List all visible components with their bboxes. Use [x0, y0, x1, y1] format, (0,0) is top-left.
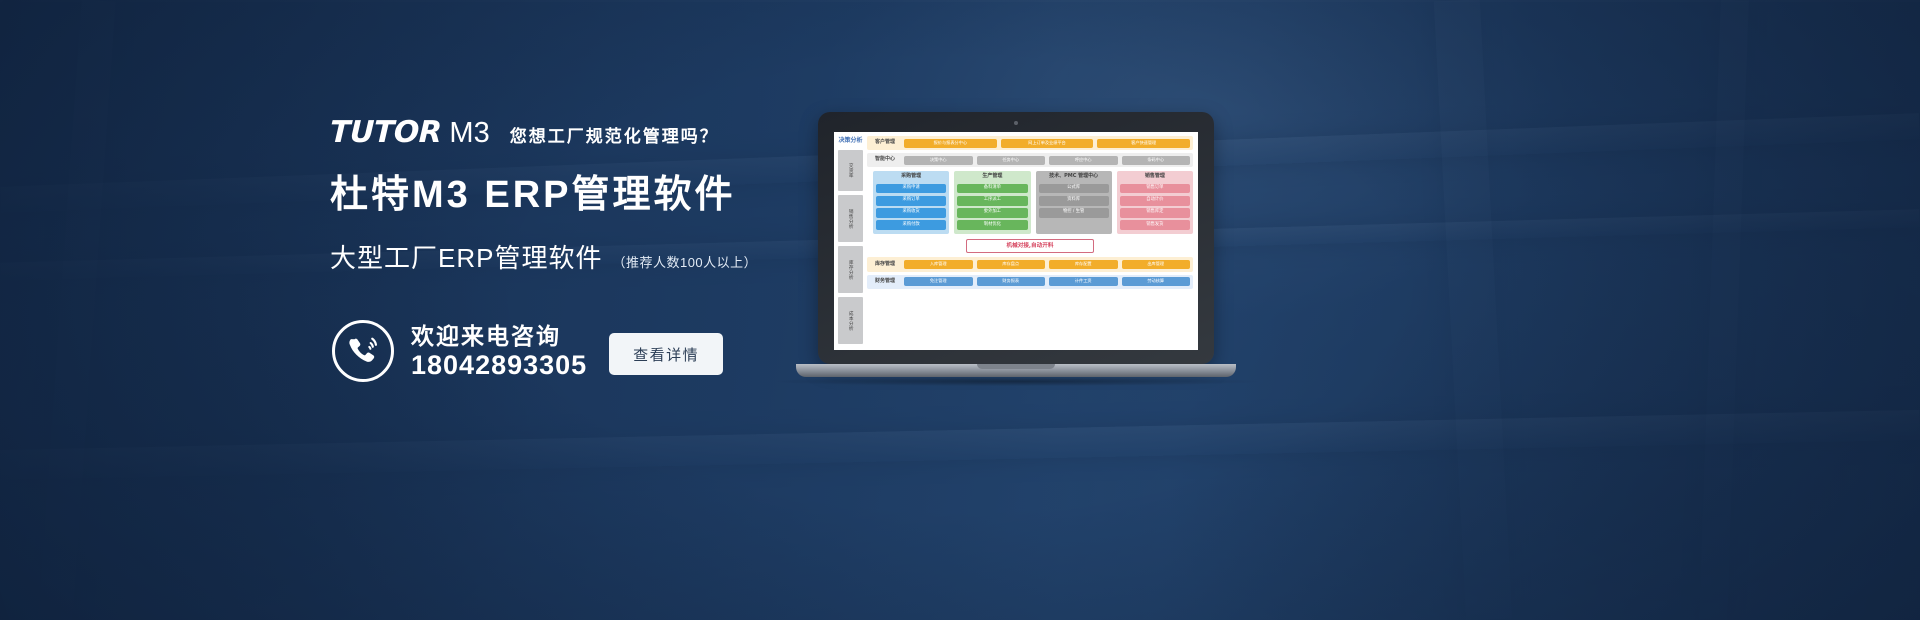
hero-tagline: 您想工厂规范化管理吗？: [510, 128, 719, 145]
erp-row-label: 智能中心: [870, 157, 900, 163]
brand-logo-m3: M3: [449, 119, 489, 148]
erp-row-label: 库存管理: [870, 262, 900, 268]
contact-phone-number: 18042893305: [411, 350, 587, 380]
erp-chip: 任务中心: [977, 156, 1046, 165]
laptop-camera-icon: [1014, 121, 1018, 125]
erp-chip: 库存配置: [1049, 260, 1118, 269]
hero-subtitle-note: （推荐人数100人以上）: [612, 252, 757, 271]
view-details-button[interactable]: 查看详情: [609, 333, 723, 375]
erp-chip: 免注管理: [904, 277, 973, 286]
laptop-mockup: 决策分析 交货率 销售分析 库存分析 成本分析 客户管理 报价与报表分中心 网上…: [818, 112, 1214, 390]
contact-block: 欢迎来电咨询 18042893305 查看详情: [332, 320, 723, 382]
erp-sidebar: 决策分析 交货率 销售分析 库存分析 成本分析: [838, 136, 863, 346]
page-title: 杜特M3 ERP管理软件: [330, 174, 850, 218]
hero-copy: TUTOR M3 您想工厂规范化管理吗？ 杜特M3 ERP管理软件 大型工厂ER…: [330, 118, 850, 275]
erp-row-finance: 财务管理 免注管理 财务报表 计件工资 劳动核算: [867, 275, 1193, 289]
erp-chip: 呼应中心: [1049, 156, 1118, 165]
erp-chip: 出库管理: [1122, 260, 1191, 269]
erp-subitem: 制材优化: [957, 220, 1027, 230]
erp-subitem: 工序派工: [957, 196, 1027, 206]
erp-subitem: 物控 / 生管: [1039, 208, 1109, 218]
erp-row-label: 客户管理: [870, 140, 900, 146]
erp-chip: 客户快速管理: [1097, 139, 1190, 148]
erp-sidebar-title: 决策分析: [838, 136, 863, 148]
erp-subitem: 采购付款: [876, 220, 946, 230]
brand-lockup: TUTOR M3 您想工厂规范化管理吗？: [330, 118, 850, 152]
erp-row-label: 财务管理: [870, 279, 900, 285]
hero-subtitle: 大型工厂ERP管理软件 （推荐人数100人以上）: [330, 238, 850, 275]
erp-row-customer: 客户管理 报价与报表分中心 网上订单及业绩平台 客户快速管理: [867, 136, 1193, 150]
erp-column-title: 销售管理: [1120, 174, 1190, 180]
erp-subitem: 采购申请: [876, 184, 946, 194]
erp-sidebar-item-inventory: 库存分析: [838, 246, 863, 293]
phone-call-icon[interactable]: [332, 320, 394, 382]
hero-banner: TUTOR M3 您想工厂规范化管理吗？ 杜特M3 ERP管理软件 大型工厂ER…: [0, 0, 1920, 620]
brand-logo-tutor: TUTOR: [329, 118, 441, 148]
erp-chip: 网上订单及业绩平台: [1001, 139, 1094, 148]
erp-column-sales: 销售管理 销售订单 自动计价 销售库定 销售发货: [1117, 171, 1193, 234]
erp-subitem: 委外加工: [957, 208, 1027, 218]
erp-subitem: 销售库定: [1120, 208, 1190, 218]
erp-module-columns: 采购管理 采购申请 采购订单 采购收货 采购付款 生产管理 备料清单 工序派工 …: [867, 171, 1193, 234]
laptop-notch: [977, 364, 1055, 369]
erp-chip: 入库管理: [904, 260, 973, 269]
erp-row-inventory: 库存管理 入库管理 库存盘点 库存配置 出库管理: [867, 257, 1193, 271]
erp-subitem: 销售订单: [1120, 184, 1190, 194]
erp-subitem: 采购收货: [876, 208, 946, 218]
erp-sidebar-item-cost: 成本分析: [838, 297, 863, 344]
erp-subitem: 资料库: [1039, 196, 1109, 206]
erp-chip: 计件工资: [1049, 277, 1118, 286]
erp-subitem: 公式库: [1039, 184, 1109, 194]
contact-text: 欢迎来电咨询 18042893305: [411, 322, 587, 380]
contact-title: 欢迎来电咨询: [411, 322, 587, 350]
erp-column-title: 采购管理: [876, 174, 946, 180]
erp-subitem: 采购订单: [876, 196, 946, 206]
erp-chip: 库存盘点: [977, 260, 1046, 269]
laptop-shadow: [774, 377, 1258, 386]
erp-column-production: 生产管理 备料清单 工序派工 委外加工 制材优化: [954, 171, 1030, 234]
erp-sidebar-item-sales: 销售分析: [838, 195, 863, 242]
erp-subitem: 备料清单: [957, 184, 1027, 194]
erp-chip: 财务报表: [977, 277, 1046, 286]
erp-column-tech-pmc: 技术、PMC 管理中心 公式库 资料库 物控 / 生管: [1036, 171, 1112, 234]
erp-subitem: 自动计价: [1120, 196, 1190, 206]
laptop-base: [796, 364, 1236, 377]
laptop-lid: 决策分析 交货率 销售分析 库存分析 成本分析 客户管理 报价与报表分中心 网上…: [818, 112, 1214, 364]
erp-sidebar-item-delivery: 交货率: [838, 150, 863, 192]
laptop-screen: 决策分析 交货率 销售分析 库存分析 成本分析 客户管理 报价与报表分中心 网上…: [834, 132, 1198, 350]
hero-subtitle-main: 大型工厂ERP管理软件: [330, 238, 602, 275]
erp-column-purchase: 采购管理 采购申请 采购订单 采购收货 采购付款: [873, 171, 949, 234]
erp-architecture-diagram: 决策分析 交货率 销售分析 库存分析 成本分析 客户管理 报价与报表分中心 网上…: [834, 132, 1198, 350]
erp-chip: 决策中心: [904, 156, 973, 165]
erp-subitem: 销售发货: [1120, 220, 1190, 230]
erp-chip: 劳动核算: [1122, 277, 1191, 286]
erp-row-smart-center: 智能中心 决策中心 任务中心 呼应中心 条码中心: [867, 153, 1193, 167]
erp-body: 客户管理 报价与报表分中心 网上订单及业绩平台 客户快速管理 智能中心 决策中心…: [863, 136, 1193, 346]
erp-column-title: 生产管理: [957, 174, 1027, 180]
erp-chip: 条码中心: [1122, 156, 1191, 165]
erp-chip: 报价与报表分中心: [904, 139, 997, 148]
erp-highlight-banner: 机械对接,自动开料: [966, 239, 1094, 253]
erp-column-title: 技术、PMC 管理中心: [1039, 174, 1109, 180]
